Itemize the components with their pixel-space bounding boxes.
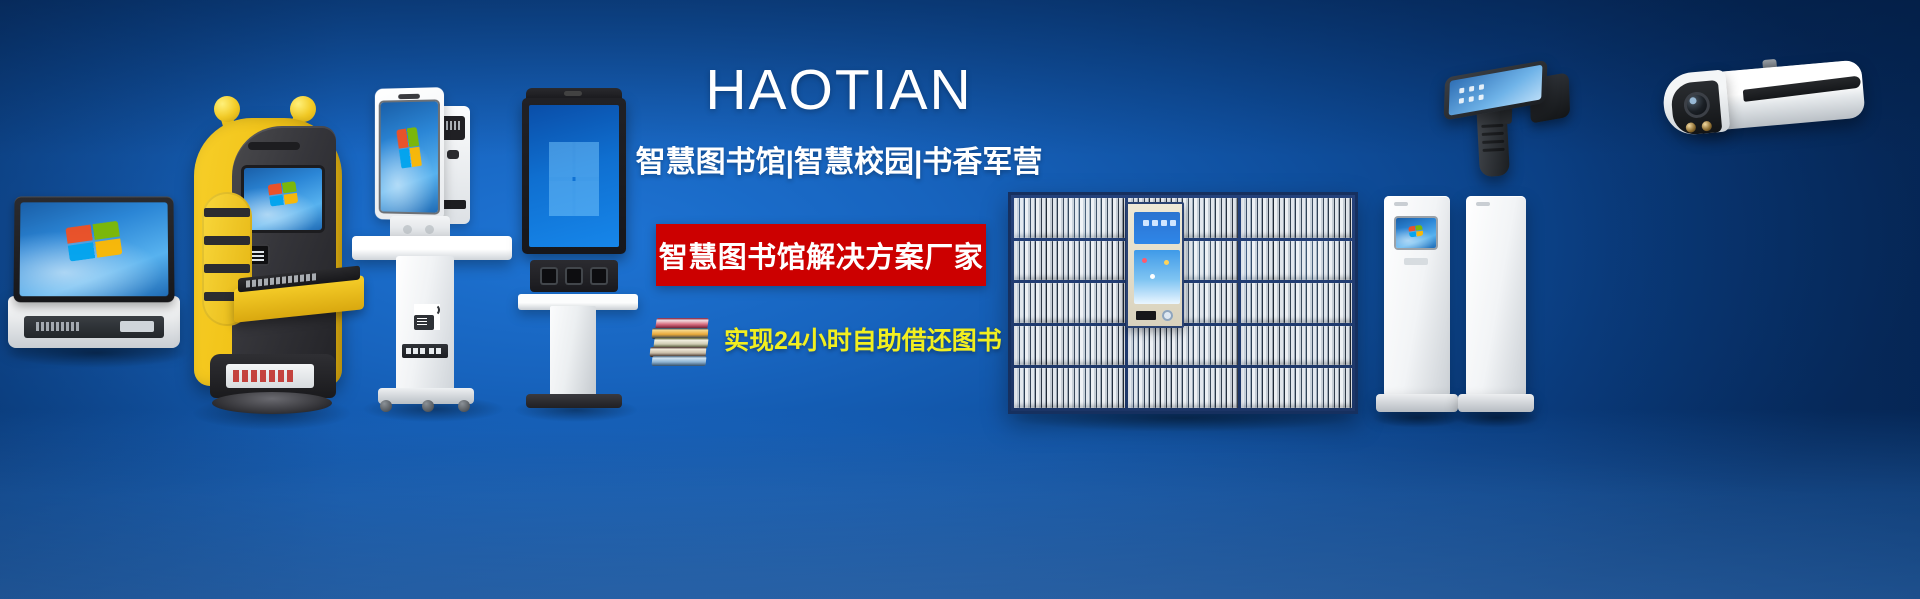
scanner-module: [565, 267, 583, 285]
product-slim-standing-totem-left: [1384, 196, 1450, 428]
kiosk-base: [8, 296, 180, 348]
shelf-row: [1241, 241, 1352, 281]
camera-icon: [564, 91, 582, 96]
shelf-row: [1014, 198, 1125, 238]
headline-block: HAOTIAN 智慧图书馆|智慧校园|书香军营: [624, 62, 1054, 181]
brand-title: HAOTIAN: [624, 62, 1054, 119]
totem-top-cap: [1476, 202, 1490, 206]
grip-ridge: [1482, 132, 1504, 136]
app-icon: [1479, 94, 1484, 100]
column-label-plate: [402, 344, 448, 358]
shelf-column: [1014, 198, 1125, 408]
caster-wheel: [380, 400, 392, 412]
windows-7-screen: [20, 202, 169, 296]
vending-top-screen: [1134, 212, 1180, 244]
book-spine: [651, 356, 706, 366]
plate-glyph: [436, 348, 441, 354]
camera-sun-hood: [1661, 69, 1730, 136]
infrared-led: [1701, 121, 1712, 132]
id-card-scanner: [441, 116, 465, 140]
rfid-icon: [414, 304, 440, 330]
bee-stripe: [204, 236, 250, 245]
kiosk-display-head: [375, 87, 444, 221]
app-icon: [1479, 84, 1484, 90]
app-icon: [1469, 96, 1474, 102]
kiosk-display-body: [13, 196, 174, 302]
camera-lens-icon: [1683, 91, 1711, 119]
panel-label: [36, 322, 80, 331]
brand-plate-text: [233, 370, 295, 382]
red-highlight-banner: 智慧图书馆解决方案厂家: [656, 224, 986, 286]
totem-body: [1466, 196, 1526, 398]
totem-body: [1384, 196, 1450, 398]
grip-ridge: [1483, 148, 1505, 152]
plate-glyph: [420, 348, 425, 354]
totem-foot-plate: [1376, 394, 1458, 412]
kiosk-base-bar: [526, 394, 622, 408]
windows-7-screen: [244, 168, 322, 230]
rfid-reader-dot: [1162, 310, 1173, 321]
product-slim-standing-totem-right: [1466, 196, 1526, 428]
card-slot: [120, 321, 154, 332]
vending-touch-panel: [1126, 202, 1184, 328]
caster-wheel: [422, 400, 434, 412]
screen-dot: [1164, 260, 1169, 265]
product-tall-portrait-kiosk: [520, 88, 628, 418]
promo-banner: HAOTIAN 智慧图书馆|智慧校园|书香军营 智慧图书馆解决方案厂家 实现24…: [0, 0, 1920, 599]
grip-ridge: [1481, 124, 1503, 128]
shelf-row: [1128, 326, 1239, 366]
vending-keypad: [1136, 311, 1156, 320]
shelf-row: [1014, 241, 1125, 281]
product-desktop-tablet-kiosk: [8, 196, 180, 356]
totem-foot-plate: [1458, 394, 1534, 412]
product-white-self-service-kiosk: [352, 88, 512, 418]
shelf-row: [1014, 368, 1125, 408]
neck-bolt: [425, 225, 434, 234]
scanner-module: [590, 267, 608, 285]
sub-claim-row: 实现24小时自助借还图书: [650, 312, 1002, 366]
fingerprint-sensor: [447, 150, 459, 159]
product-bullet-security-camera: [1657, 51, 1874, 155]
screen-glyph: [1143, 220, 1149, 226]
camera-stripe: [1743, 76, 1861, 102]
neck-bolt: [403, 225, 412, 234]
shelf-row: [1128, 368, 1239, 408]
product-yellow-bee-book-return-kiosk: [186, 96, 346, 416]
stacked-books-icon: [650, 312, 712, 366]
windows-7-screen: [1396, 218, 1436, 248]
kiosk-display-bezel: [522, 98, 626, 254]
bee-brand-plate: [226, 364, 314, 388]
bee-round-foot: [212, 392, 332, 414]
screen-dot: [1142, 258, 1147, 263]
screen-dot: [1150, 274, 1155, 279]
vending-main-screen: [1134, 250, 1180, 304]
sub-claim-text: 实现24小时自助借还图书: [724, 321, 1002, 357]
rfid-card-shape: [414, 315, 434, 330]
android-launcher-screen: [1449, 65, 1543, 116]
screen-glyph: [1161, 220, 1167, 226]
plate-glyph: [429, 348, 434, 354]
shelf-row: [1241, 368, 1352, 408]
totem-top-cap: [1394, 202, 1408, 206]
totem-reader-pad: [1404, 258, 1428, 265]
app-icon: [1459, 98, 1464, 104]
bee-antenna-ball-left: [214, 96, 240, 122]
bee-stripe: [204, 264, 250, 273]
bee-stripe: [204, 208, 250, 217]
tagline: 智慧图书馆|智慧校园|书香军营: [624, 137, 1054, 181]
shelf-row: [1241, 198, 1352, 238]
book-return-tray: [234, 275, 364, 323]
shelf-row: [1241, 283, 1352, 323]
kiosk-column: [396, 256, 454, 394]
kiosk-stand-column: [550, 306, 596, 398]
shelf-column: [1241, 198, 1352, 408]
grip-ridge: [1482, 140, 1504, 144]
product-handheld-rfid-reader: [1438, 41, 1593, 187]
windows-10-screen: [529, 105, 619, 247]
red-banner-text: 智慧图书馆解决方案厂家: [659, 234, 984, 276]
app-icon: [1469, 86, 1474, 92]
shelf-row: [1014, 283, 1125, 323]
camera-face-plate: [1670, 80, 1722, 136]
screen-glyph: [1170, 220, 1176, 226]
plate-glyph: [413, 348, 418, 354]
windows-7-screen: [381, 101, 438, 212]
scanner-module: [540, 267, 558, 285]
caster-wheel: [458, 400, 470, 412]
screen-glyph: [1152, 220, 1158, 226]
app-icon: [1459, 88, 1464, 94]
product-rfid-book-vending-shelf-wall: [1008, 192, 1358, 414]
kiosk-control-module: [530, 260, 618, 292]
shelf-row: [1241, 326, 1352, 366]
floor-glow: [0, 409, 1920, 599]
camera-icon: [398, 94, 420, 99]
bee-top-notch: [248, 142, 300, 150]
infrared-led: [1685, 122, 1696, 133]
plate-glyph: [406, 348, 411, 354]
shelf-row: [1014, 326, 1125, 366]
card-reader-panel: [24, 316, 164, 338]
